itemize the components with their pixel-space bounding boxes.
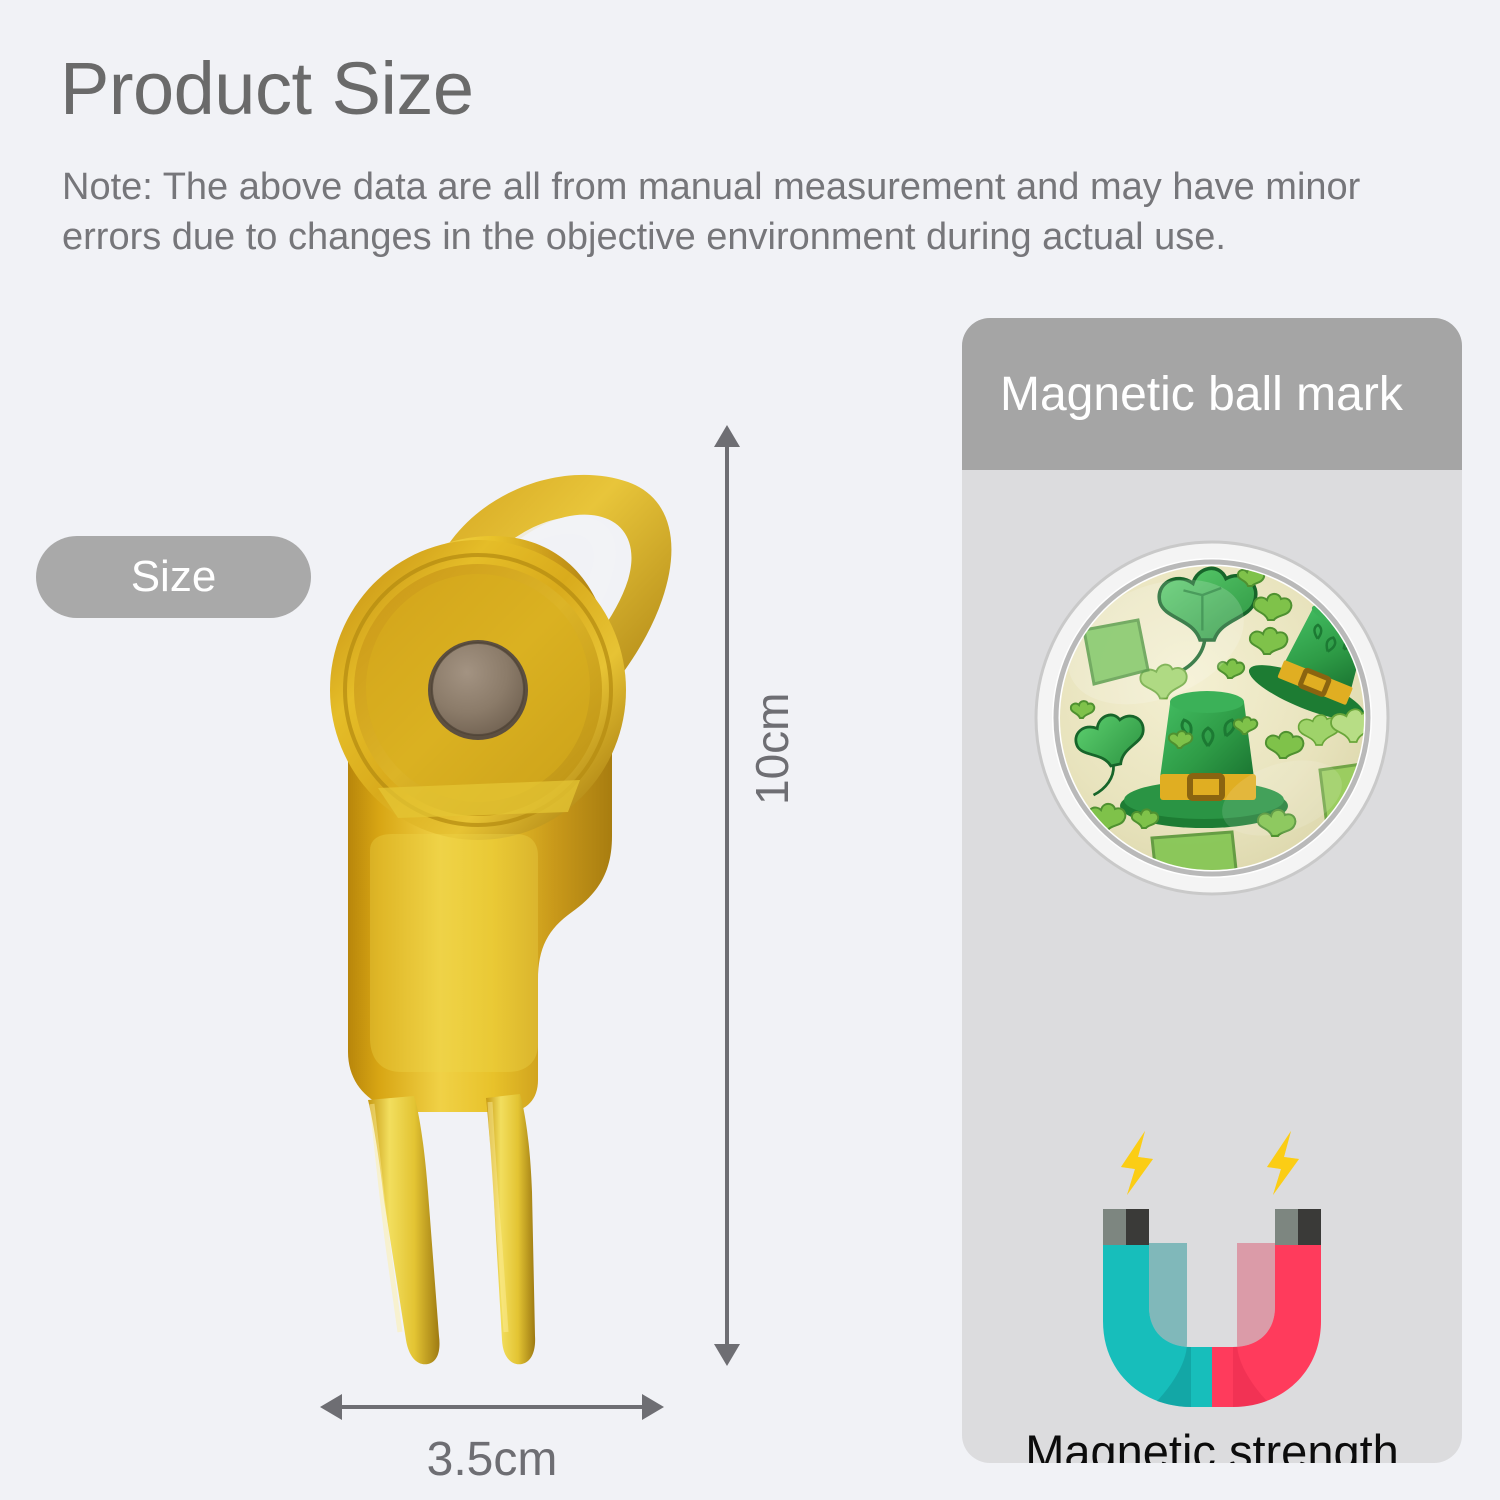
height-dimension-label: 10cm <box>745 693 799 805</box>
caption-line-1: Magnetic strength <box>962 1425 1462 1463</box>
panel-title: Magnetic ball mark <box>1000 367 1403 422</box>
arrow-head-left-icon <box>320 1394 342 1420</box>
st-patricks-ball-marker-icon <box>1032 538 1392 898</box>
magnet-captions: Magnetic strength Adhere more firmly <box>962 1425 1462 1463</box>
width-dimension-arrow <box>338 1405 646 1409</box>
arrow-head-down-icon <box>714 1344 740 1366</box>
height-dimension-arrow <box>725 443 729 1348</box>
size-badge: Size <box>36 536 311 618</box>
arrow-head-up-icon <box>714 425 740 447</box>
panel-header: Magnetic ball mark <box>962 318 1462 470</box>
size-badge-label: Size <box>131 552 217 602</box>
arrow-head-right-icon <box>642 1394 664 1420</box>
measurement-note: Note: The above data are all from manual… <box>62 162 1462 262</box>
width-dimension-label: 3.5cm <box>0 1432 984 1487</box>
page-title: Product Size <box>60 52 474 126</box>
horseshoe-magnet-icon <box>1087 1125 1337 1415</box>
product-size-infographic: Product Size Note: The above data are al… <box>0 0 1500 1500</box>
panel-body: Magnetic strength Adhere more firmly <box>962 470 1462 1463</box>
magnetic-ball-mark-panel: Magnetic ball mark <box>962 318 1462 1463</box>
golf-divot-tool-icon <box>310 440 710 1380</box>
